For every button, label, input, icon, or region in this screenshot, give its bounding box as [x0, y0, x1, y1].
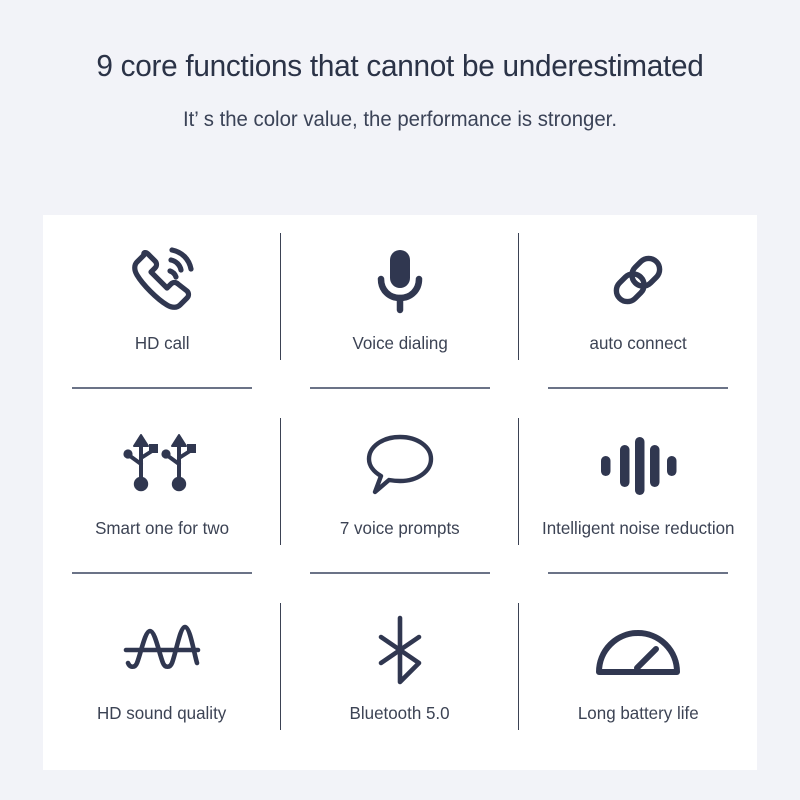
cell-underline — [548, 572, 729, 574]
feature-cell-battery-life[interactable]: Long battery life — [519, 585, 757, 770]
microphone-icon — [364, 237, 436, 323]
audio-equalizer-icon — [595, 422, 681, 508]
feature-label: HD sound quality — [97, 703, 226, 724]
page-title: 9 core functions that cannot be underest… — [16, 48, 784, 84]
dual-usb-icon — [119, 422, 205, 508]
feature-label: auto connect — [589, 333, 686, 354]
cell-underline — [310, 572, 491, 574]
feature-label: Long battery life — [578, 703, 699, 724]
chain-link-icon — [602, 237, 674, 323]
feature-cell-smart-one-for-two[interactable]: Smart one for two — [43, 400, 281, 585]
feature-label: Voice dialing — [352, 333, 447, 354]
page-header: 9 core functions that cannot be underest… — [0, 0, 800, 132]
features-grid: HD call Voice dialing — [43, 215, 757, 770]
feature-cell-noise-reduction[interactable]: Intelligent noise reduction — [519, 400, 757, 585]
cell-underline — [310, 387, 491, 389]
cell-underline — [548, 387, 729, 389]
feature-cell-voice-prompts[interactable]: 7 voice prompts — [281, 400, 519, 585]
feature-grid-page: 9 core functions that cannot be underest… — [0, 0, 800, 800]
bluetooth-icon — [367, 607, 433, 693]
feature-label: HD call — [135, 333, 190, 354]
features-card: HD call Voice dialing — [43, 215, 757, 770]
cell-underline — [72, 387, 253, 389]
page-subtitle: It’ s the color value, the performance i… — [12, 108, 788, 132]
feature-label: 7 voice prompts — [340, 518, 460, 539]
phone-call-icon — [124, 237, 200, 323]
speech-bubble-icon — [361, 422, 439, 508]
feature-cell-auto-connect[interactable]: auto connect — [519, 215, 757, 400]
feature-label: Bluetooth 5.0 — [350, 703, 450, 724]
feature-cell-sound-quality[interactable]: HD sound quality — [43, 585, 281, 770]
feature-label: Smart one for two — [95, 518, 229, 539]
gauge-icon — [592, 607, 684, 693]
feature-cell-voice-dialing[interactable]: Voice dialing — [281, 215, 519, 400]
feature-label: Intelligent noise reduction — [542, 518, 735, 539]
cell-underline — [72, 572, 253, 574]
feature-cell-hd-call[interactable]: HD call — [43, 215, 281, 400]
sound-wave-icon — [120, 607, 204, 693]
feature-cell-bluetooth[interactable]: Bluetooth 5.0 — [281, 585, 519, 770]
